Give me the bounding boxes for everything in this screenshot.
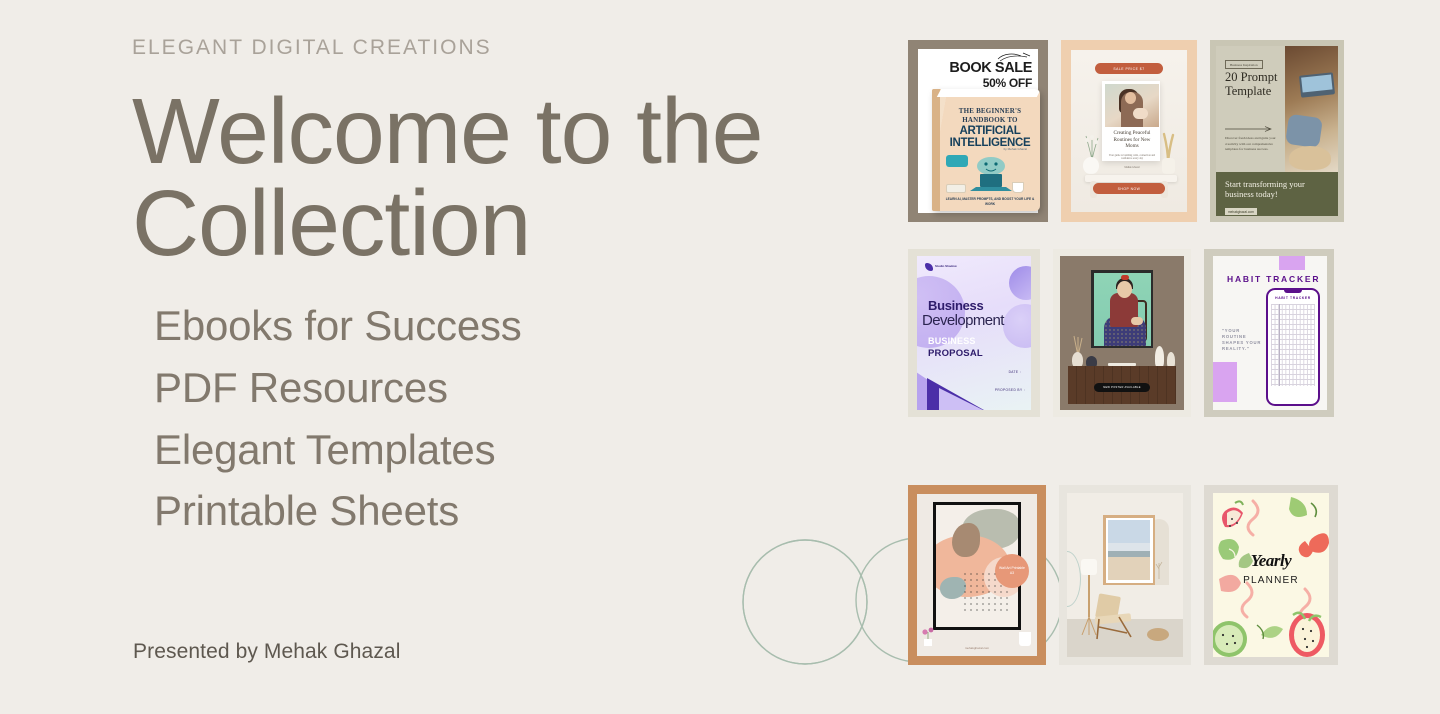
- gallery-row: Studio Shadow Business Development BUSIN…: [908, 249, 1368, 417]
- eyebrow-label: ELEGANT DIGITAL CREATIONS: [132, 36, 872, 59]
- list-item: Elegant Templates: [154, 419, 872, 481]
- shop-pill: SHOP NOW: [1093, 183, 1165, 194]
- heart-icon: [925, 263, 933, 271]
- field-proposed-by: PROPOSED BY :: [995, 388, 1025, 392]
- slide-copy: ELEGANT DIGITAL CREATIONS Welcome to the…: [132, 36, 872, 542]
- page-title: Welcome to the Collection: [132, 85, 832, 269]
- gallery-row: Wall Art Printable A3 mehakghazal.com: [908, 485, 1368, 665]
- subtitle-line1: BUSINESS: [928, 336, 976, 346]
- ebook-frame: Creating Peaceful Routines for New Moms …: [1102, 81, 1160, 161]
- card-title: HABIT TRACKER: [1227, 274, 1320, 284]
- card-framed-portrait-poster[interactable]: NEW POSTER AVAILABLE: [1053, 249, 1191, 417]
- plant-icon: [921, 624, 935, 646]
- picture-frame: [1091, 270, 1153, 348]
- card-body: Discover fresh ideas and ignite your cre…: [1225, 136, 1283, 153]
- feature-list: Ebooks for Success PDF Resources Elegant…: [154, 295, 872, 542]
- planner-title-sans: PLANNER: [1213, 575, 1329, 586]
- printable-badge: Wall Art Printable A3: [995, 554, 1029, 588]
- poster-pill: NEW POSTER AVAILABLE: [1094, 383, 1150, 392]
- brand-logo: Studio Shadow: [925, 263, 957, 271]
- field-date: DATE :: [1009, 370, 1021, 374]
- site-url: mehakghazal.com: [917, 646, 1037, 650]
- phone-title: HABIT TRACKER: [1268, 296, 1318, 300]
- card-habit-tracker-printable[interactable]: HABIT TRACKER "YOUR ROUTINE SHAPES YOUR …: [1204, 249, 1334, 417]
- workspace-photo: [1285, 46, 1338, 172]
- card-book-sale-ai-ebook[interactable]: BOOK SALE 50% OFF THE BEGINNER'S HANDBOO…: [908, 40, 1048, 222]
- arrow-right-icon: [1225, 126, 1273, 132]
- card-business-development-proposal[interactable]: Studio Shadow Business Development BUSIN…: [908, 249, 1040, 417]
- planner-title-script: Yearly: [1213, 551, 1329, 571]
- cta-text: Start transforming your business today!: [1225, 180, 1329, 200]
- chair-illustration: [1093, 593, 1135, 641]
- title-light: Development: [922, 312, 1004, 329]
- sale-pill: SALE PRICE $7: [1095, 63, 1163, 74]
- twig-icon: [1155, 559, 1163, 579]
- product-gallery: BOOK SALE 50% OFF THE BEGINNER'S HANDBOO…: [908, 40, 1368, 665]
- card-landscape-print-interior[interactable]: [1059, 485, 1191, 665]
- title-bold: Business: [928, 298, 983, 313]
- subtitle-line2: PROPOSAL: [928, 348, 983, 359]
- gallery-row: BOOK SALE 50% OFF THE BEGINNER'S HANDBOO…: [908, 40, 1368, 222]
- list-item: PDF Resources: [154, 357, 872, 419]
- phone-mockup: HABIT TRACKER: [1266, 288, 1320, 406]
- list-item: Printable Sheets: [154, 480, 872, 542]
- category-tag: Business Inspiration: [1225, 60, 1263, 69]
- presenter-credit: Presented by Mehak Ghazal: [133, 640, 400, 664]
- ebook-mockup: THE BEGINNER'S HANDBOOK TO ARTIFICIAL IN…: [932, 89, 1040, 211]
- list-item: Ebooks for Success: [154, 295, 872, 357]
- card-peaceful-routines-ebook[interactable]: SALE PRICE $7 Creating Peaceful Routines…: [1061, 40, 1197, 222]
- picture-frame: [1103, 515, 1155, 585]
- site-url: mehakghazal.com: [1225, 208, 1257, 215]
- card-20-prompt-template[interactable]: Business Inspiration 20 Prompt Template …: [1210, 40, 1344, 222]
- sale-headline: BOOK SALE 50% OFF: [949, 60, 1032, 90]
- card-title: 20 Prompt Template: [1225, 70, 1287, 98]
- card-abstract-wall-art-calendar[interactable]: Wall Art Printable A3 mehakghazal.com: [908, 485, 1046, 665]
- card-quote: "YOUR ROUTINE SHAPES YOUR REALITY.": [1222, 328, 1266, 352]
- card-yearly-planner[interactable]: Yearly PLANNER: [1204, 485, 1338, 665]
